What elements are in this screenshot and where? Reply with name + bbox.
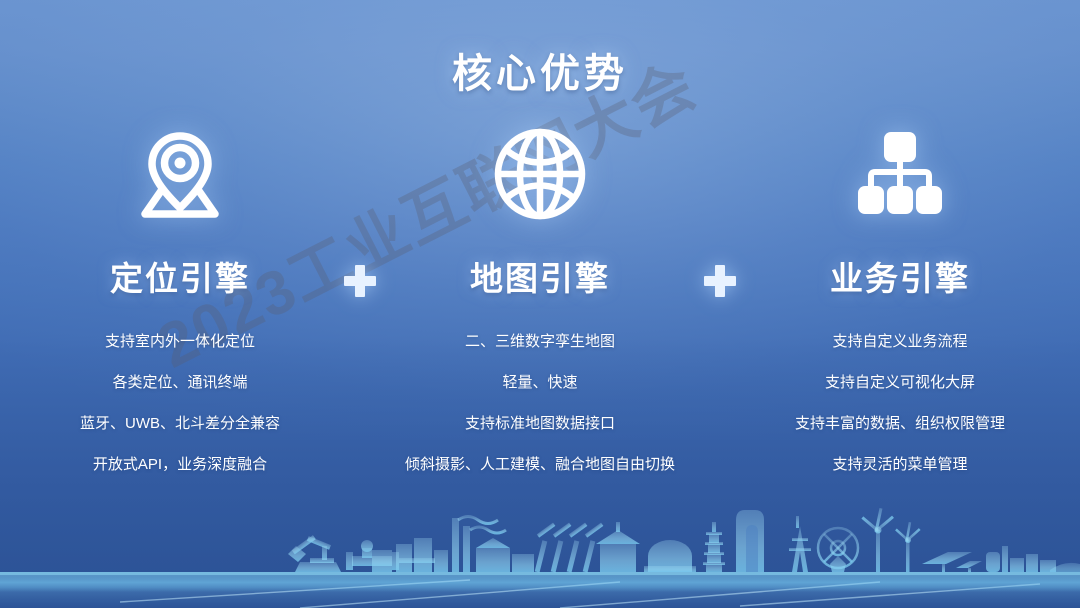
feature-line: 轻量、快速 xyxy=(380,375,700,390)
feature-title: 定位引擎 xyxy=(20,252,340,300)
feature-line: 支持标准地图数据接口 xyxy=(380,416,700,431)
feature-column-positioning: 定位引擎 支持室内外一体化定位 各类定位、通讯终端 蓝牙、UWB、北斗差分全兼容… xyxy=(20,120,340,472)
globe-icon xyxy=(380,120,700,228)
feature-columns: 定位引擎 支持室内外一体化定位 各类定位、通讯终端 蓝牙、UWB、北斗差分全兼容… xyxy=(0,120,1080,472)
slide-root: 2023工业互联网大会 核心优势 定位引擎 支持室内外一体化定位 各类定位、通讯… xyxy=(0,0,1080,608)
feature-line: 开放式API，业务深度融合 xyxy=(20,457,340,472)
feature-column-business: 业务引擎 支持自定义业务流程 支持自定义可视化大屏 支持丰富的数据、组织权限管理… xyxy=(740,120,1060,472)
plus-separator-2 xyxy=(700,120,740,297)
feature-line: 蓝牙、UWB、北斗差分全兼容 xyxy=(20,416,340,431)
horizon-glow-band xyxy=(0,576,1080,592)
feature-line: 支持丰富的数据、组织权限管理 xyxy=(740,416,1060,431)
plus-icon xyxy=(704,265,736,297)
plus-separator-1 xyxy=(340,120,380,297)
feature-line: 二、三维数字孪生地图 xyxy=(380,334,700,349)
feature-line: 支持灵活的菜单管理 xyxy=(740,457,1060,472)
feature-column-map: 地图引擎 二、三维数字孪生地图 轻量、快速 支持标准地图数据接口 倾斜摄影、人工… xyxy=(380,120,700,472)
feature-title: 地图引擎 xyxy=(380,252,700,300)
feature-line: 支持自定义可视化大屏 xyxy=(740,375,1060,390)
page-title: 核心优势 xyxy=(0,41,1080,99)
feature-lines: 支持自定义业务流程 支持自定义可视化大屏 支持丰富的数据、组织权限管理 支持灵活… xyxy=(740,334,1060,472)
plus-icon xyxy=(344,265,376,297)
feature-lines: 支持室内外一体化定位 各类定位、通讯终端 蓝牙、UWB、北斗差分全兼容 开放式A… xyxy=(20,334,340,472)
feature-line: 各类定位、通讯终端 xyxy=(20,375,340,390)
feature-title: 业务引擎 xyxy=(740,252,1060,300)
skyline-decoration xyxy=(0,490,1080,608)
feature-line: 支持自定义业务流程 xyxy=(740,334,1060,349)
feature-line: 支持室内外一体化定位 xyxy=(20,334,340,349)
feature-lines: 二、三维数字孪生地图 轻量、快速 支持标准地图数据接口 倾斜摄影、人工建模、融合… xyxy=(380,334,700,472)
location-pin-icon xyxy=(20,120,340,228)
feature-line: 倾斜摄影、人工建模、融合地图自由切换 xyxy=(380,457,700,472)
org-chart-icon xyxy=(740,120,1060,228)
